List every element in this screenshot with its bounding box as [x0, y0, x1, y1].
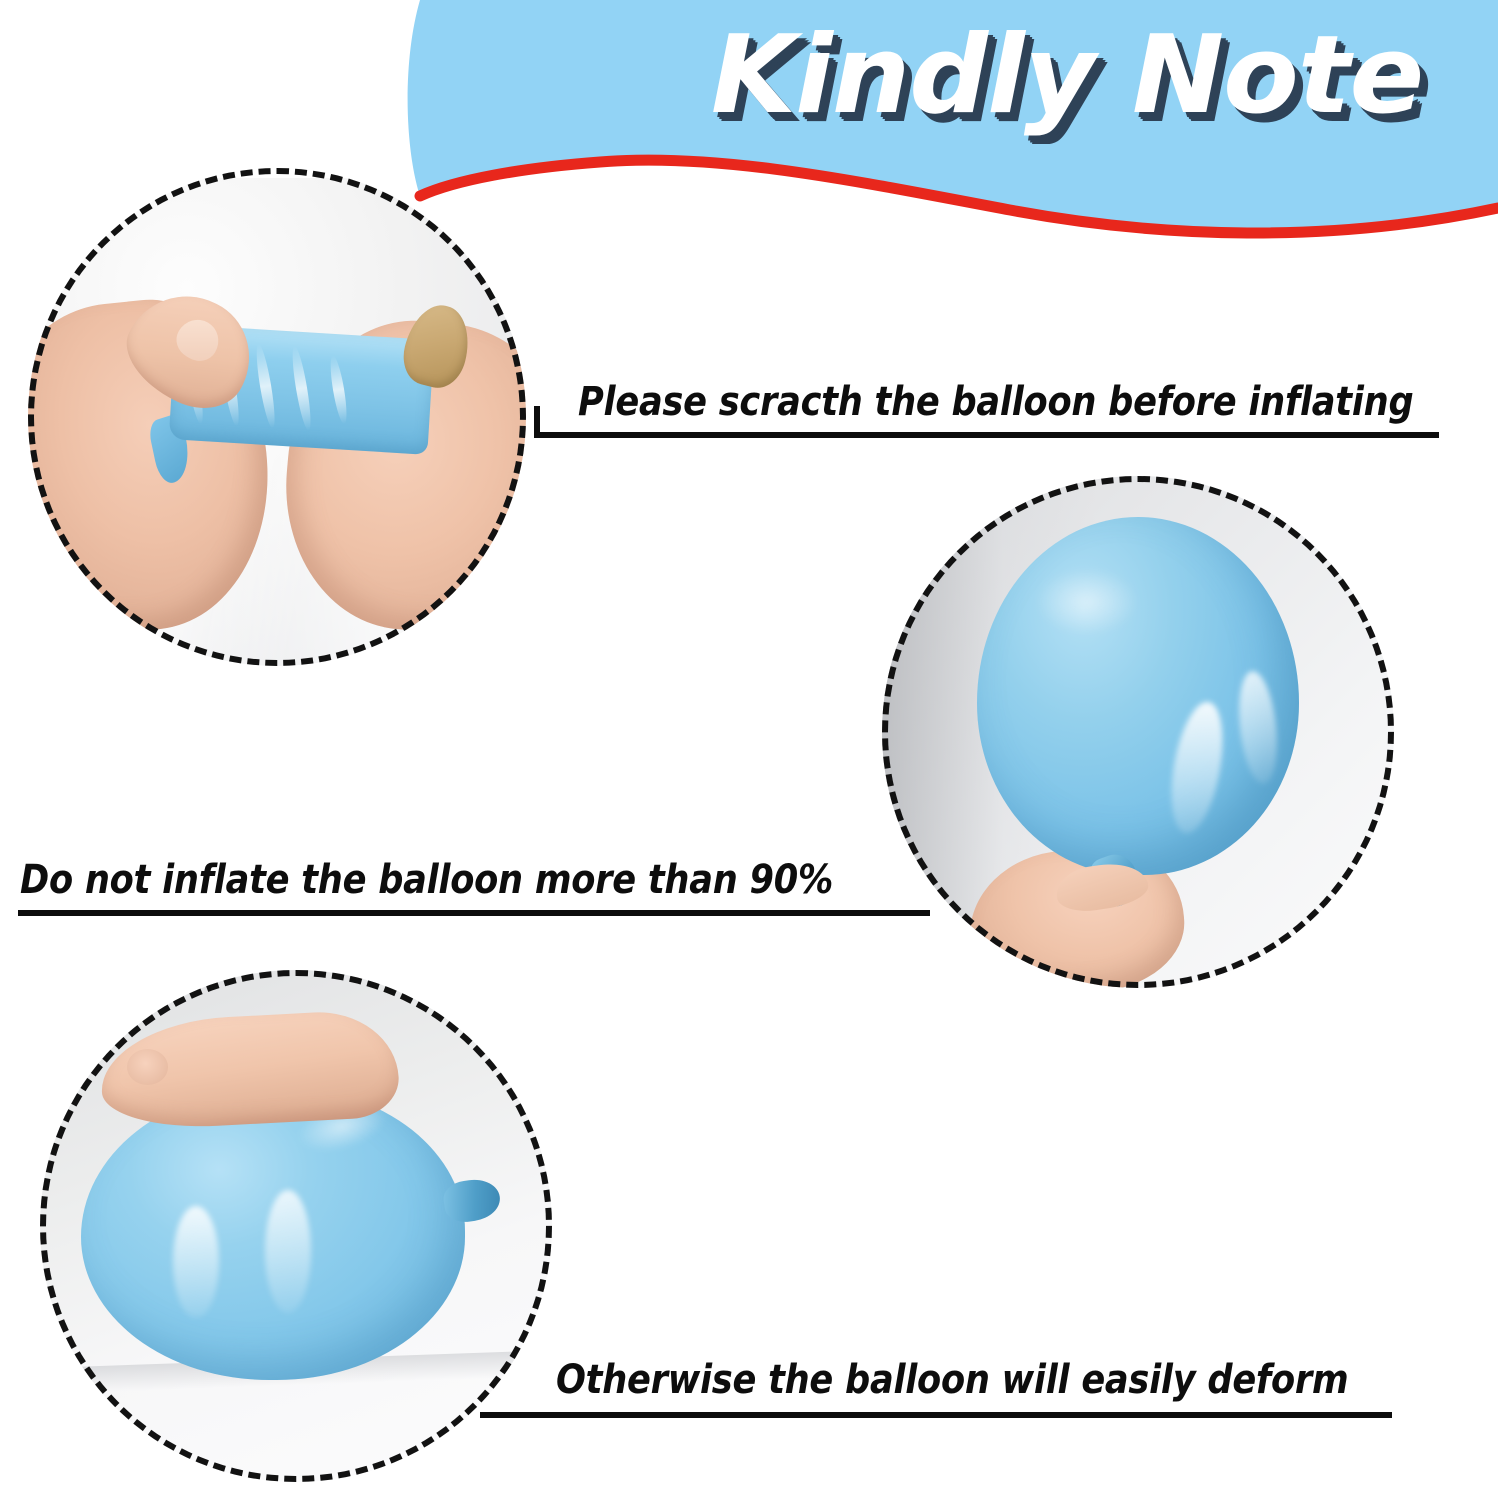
dashed-ring-deformed [40, 970, 552, 1482]
caption-underline [534, 432, 1439, 438]
caption-underline [480, 1412, 1392, 1418]
banner-blue-fill [408, 0, 1498, 233]
page-title: Kindly Note [664, 6, 1470, 146]
dashed-ring-stretch [28, 168, 526, 666]
caption-underline [18, 910, 930, 916]
kindly-note-instruction-page: Kindly Note [0, 0, 1498, 1500]
caption-scratch: Please scracth the balloon before inflat… [578, 382, 1413, 422]
caption-deform-warning: Otherwise the balloon will easily deform [556, 1360, 1348, 1400]
dashed-ring-inflated [882, 476, 1394, 988]
caption-inflate-limit: Do not inflate the balloon more than 90% [20, 860, 833, 900]
banner-red-wave [420, 160, 1498, 233]
